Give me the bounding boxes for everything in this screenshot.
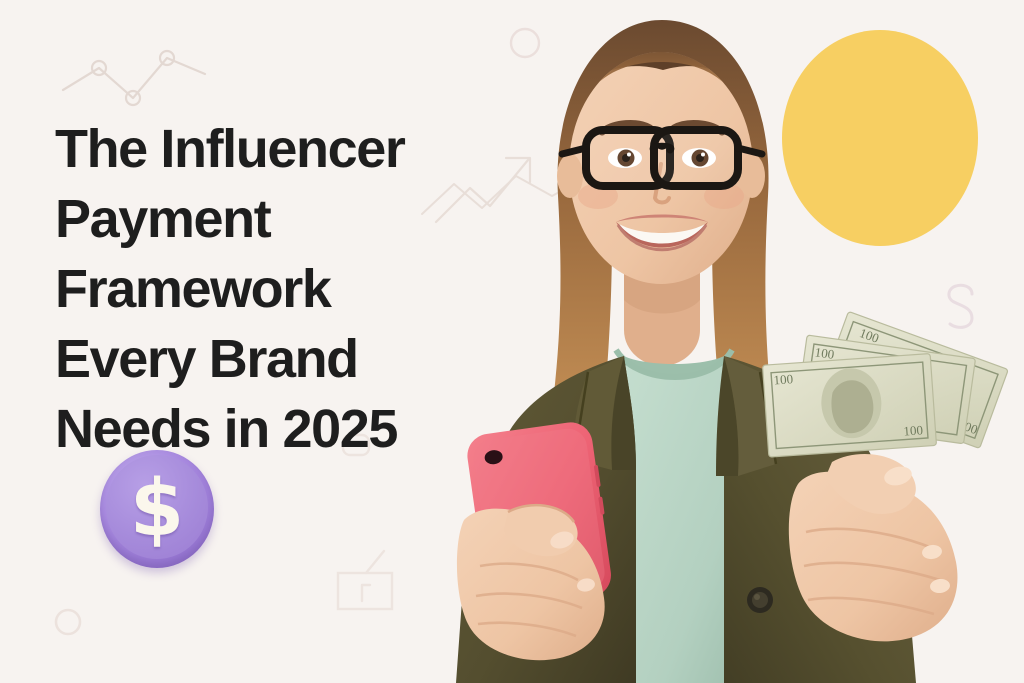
svg-text:100: 100 [903,422,923,438]
glasses-icon [562,130,762,186]
svg-text:100: 100 [773,371,793,387]
hundred-dollar-bill: 100 100 [763,354,937,457]
coin-dollar-glyph: $ [100,450,214,568]
svg-text:100: 100 [814,344,835,362]
megaphone-deco [332,545,402,617]
pink-phone-in-hand [457,419,616,660]
line-chart-deco-top-left [55,28,215,113]
hero-banner: The Influencer Payment Framework Every B… [0,0,1024,683]
woman-with-phone-and-cash-photo: 100 100 100 100 [412,0,1024,683]
circle-outline-deco-bottom-left [52,606,84,638]
dollar-coin-icon: $ [100,450,214,568]
